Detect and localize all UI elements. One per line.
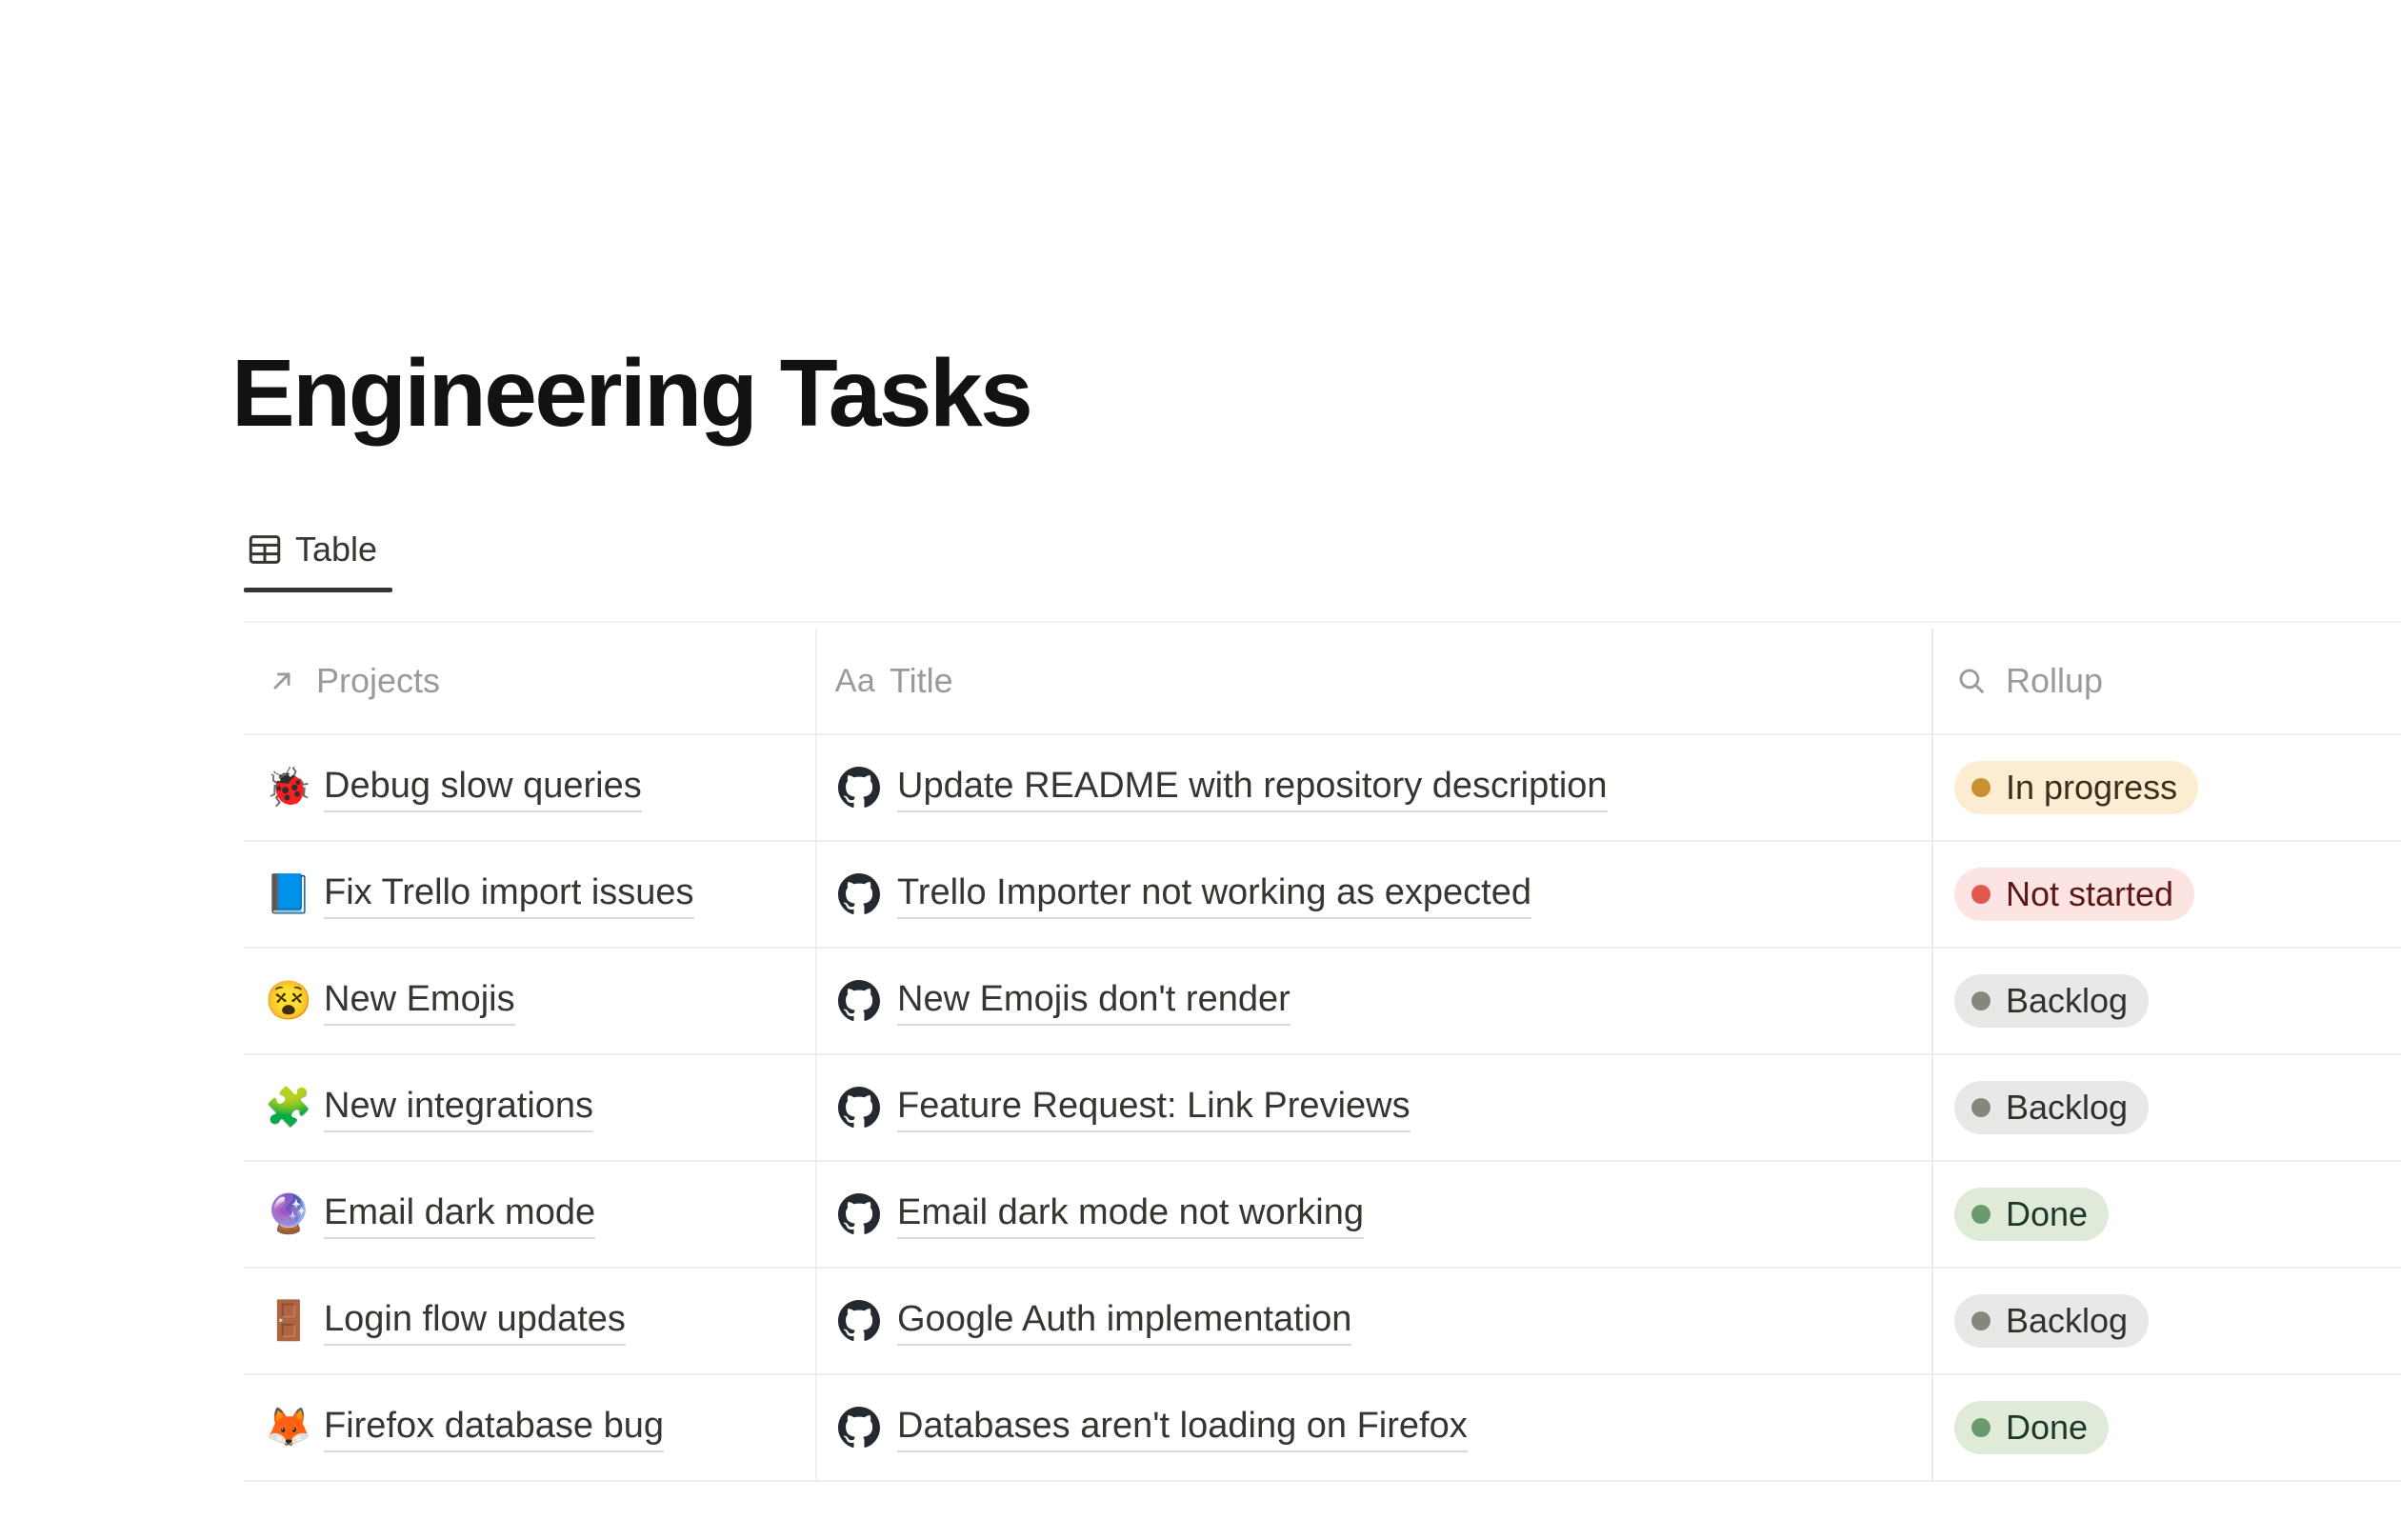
- column-header-label: Rollup: [2006, 661, 2103, 701]
- project-relation-link[interactable]: Login flow updates: [324, 1297, 626, 1346]
- cell-rollup[interactable]: In progress: [1931, 735, 2399, 840]
- cell-rollup[interactable]: Done: [1931, 1162, 2399, 1267]
- status-dot: [1971, 885, 1991, 904]
- issue-title-link[interactable]: Email dark mode not working: [897, 1190, 1364, 1239]
- project-relation-link[interactable]: New integrations: [324, 1084, 593, 1132]
- fox-emoji: 🦊: [265, 1407, 309, 1449]
- issue-title-link[interactable]: Feature Request: Link Previews: [897, 1084, 1411, 1132]
- table-row[interactable]: 🔮 Email dark mode Email dark mode not wo…: [244, 1162, 2401, 1269]
- cell-rollup[interactable]: Done: [1931, 1375, 2399, 1480]
- table-row[interactable]: 📘 Fix Trello import issues Trello Import…: [244, 842, 2401, 949]
- status-label: Backlog: [2006, 1294, 2128, 1348]
- project-relation-link[interactable]: Email dark mode: [324, 1190, 595, 1239]
- column-header-projects[interactable]: Projects: [244, 629, 815, 733]
- cell-projects[interactable]: 😵 New Emojis: [244, 949, 815, 1053]
- cell-projects[interactable]: 📘 Fix Trello import issues: [244, 842, 815, 947]
- table-row[interactable]: 🚪 Login flow updates Google Auth impleme…: [244, 1269, 2401, 1375]
- status-badge: Backlog: [1954, 1294, 2149, 1348]
- puzzle-piece-emoji: 🧩: [265, 1087, 309, 1129]
- github-icon: [838, 767, 897, 809]
- cell-title[interactable]: Trello Importer not working as expected: [815, 842, 1931, 947]
- column-header-title[interactable]: Aa Title: [815, 629, 1931, 733]
- github-icon: [838, 1300, 897, 1342]
- status-dot: [1971, 991, 1991, 1010]
- status-label: Backlog: [2006, 974, 2128, 1028]
- cell-rollup[interactable]: Backlog: [1931, 1055, 2399, 1160]
- cell-title[interactable]: Feature Request: Link Previews: [815, 1055, 1931, 1160]
- project-relation-link[interactable]: Fix Trello import issues: [324, 870, 694, 919]
- status-badge: Backlog: [1954, 974, 2149, 1028]
- issue-title-link[interactable]: New Emojis don't render: [897, 977, 1291, 1026]
- status-badge: Done: [1954, 1401, 2109, 1454]
- crystal-ball-emoji: 🔮: [265, 1193, 309, 1235]
- cell-title[interactable]: Google Auth implementation: [815, 1269, 1931, 1373]
- page-title: Engineering Tasks: [231, 340, 1030, 447]
- notion-database-page: Engineering Tasks Table: [0, 0, 2401, 1540]
- issue-title-link[interactable]: Update README with repository descriptio…: [897, 764, 1608, 812]
- status-badge: In progress: [1954, 761, 2198, 814]
- table-row[interactable]: 🦊 Firefox database bug Databases aren't …: [244, 1375, 2401, 1482]
- table-row[interactable]: 🐞 Debug slow queries Update README with …: [244, 735, 2401, 842]
- issue-title-link[interactable]: Google Auth implementation: [897, 1297, 1351, 1346]
- tab-bar-divider: [244, 621, 2401, 623]
- lady-beetle-emoji: 🐞: [265, 767, 309, 809]
- issue-title-link[interactable]: Databases aren't loading on Firefox: [897, 1404, 1468, 1452]
- status-badge: Done: [1954, 1188, 2109, 1241]
- status-dot: [1971, 1418, 1991, 1437]
- door-emoji: 🚪: [265, 1300, 309, 1342]
- status-label: Done: [2006, 1188, 2088, 1241]
- table-icon: [248, 532, 282, 567]
- table-row[interactable]: 😵 New Emojis New Emojis don't render Bac…: [244, 949, 2401, 1055]
- cell-title[interactable]: Update README with repository descriptio…: [815, 735, 1931, 840]
- status-dot: [1971, 1098, 1991, 1117]
- tab-label: Table: [295, 530, 377, 570]
- project-relation-link[interactable]: Firefox database bug: [324, 1404, 664, 1452]
- cell-title[interactable]: New Emojis don't render: [815, 949, 1931, 1053]
- status-label: Done: [2006, 1401, 2088, 1454]
- status-dot: [1971, 778, 1991, 797]
- status-dot: [1971, 1205, 1991, 1224]
- project-relation-link[interactable]: New Emojis: [324, 977, 515, 1026]
- github-icon: [838, 1407, 897, 1449]
- status-dot: [1971, 1311, 1991, 1330]
- column-header-label: Title: [890, 661, 953, 701]
- cell-rollup[interactable]: Backlog: [1931, 1269, 2399, 1373]
- status-label: In progress: [2006, 761, 2177, 814]
- cell-projects[interactable]: 🦊 Firefox database bug: [244, 1375, 815, 1480]
- column-header-label: Projects: [316, 661, 440, 701]
- github-icon: [838, 1087, 897, 1129]
- column-header-rollup[interactable]: Rollup: [1931, 629, 2399, 733]
- github-icon: [838, 980, 897, 1022]
- search-icon: [1954, 664, 1989, 698]
- blue-book-emoji: 📘: [265, 873, 309, 915]
- github-icon: [838, 1193, 897, 1235]
- view-tab-bar: Table: [244, 530, 392, 592]
- cell-projects[interactable]: 🧩 New integrations: [244, 1055, 815, 1160]
- dizzy-face-emoji: 😵: [265, 980, 309, 1022]
- table-row[interactable]: 🧩 New integrations Feature Request: Link…: [244, 1055, 2401, 1162]
- table-header-row: Projects Aa Title Rollup: [244, 629, 2401, 735]
- cell-projects[interactable]: 🚪 Login flow updates: [244, 1269, 815, 1373]
- tab-table[interactable]: Table: [244, 530, 392, 592]
- cell-rollup[interactable]: Not started: [1931, 842, 2399, 947]
- project-relation-link[interactable]: Debug slow queries: [324, 764, 642, 812]
- cell-projects[interactable]: 🔮 Email dark mode: [244, 1162, 815, 1267]
- cell-rollup[interactable]: Backlog: [1931, 949, 2399, 1053]
- status-badge: Not started: [1954, 868, 2194, 921]
- status-label: Backlog: [2006, 1081, 2128, 1134]
- cell-title[interactable]: Databases aren't loading on Firefox: [815, 1375, 1931, 1480]
- database-table: Projects Aa Title Rollup: [244, 629, 2401, 1482]
- cell-title[interactable]: Email dark mode not working: [815, 1162, 1931, 1267]
- github-icon: [838, 873, 897, 915]
- status-label: Not started: [2006, 868, 2173, 921]
- relation-arrow-icon: [265, 664, 299, 698]
- text-aa-icon: Aa: [838, 664, 872, 698]
- issue-title-link[interactable]: Trello Importer not working as expected: [897, 870, 1531, 919]
- cell-projects[interactable]: 🐞 Debug slow queries: [244, 735, 815, 840]
- status-badge: Backlog: [1954, 1081, 2149, 1134]
